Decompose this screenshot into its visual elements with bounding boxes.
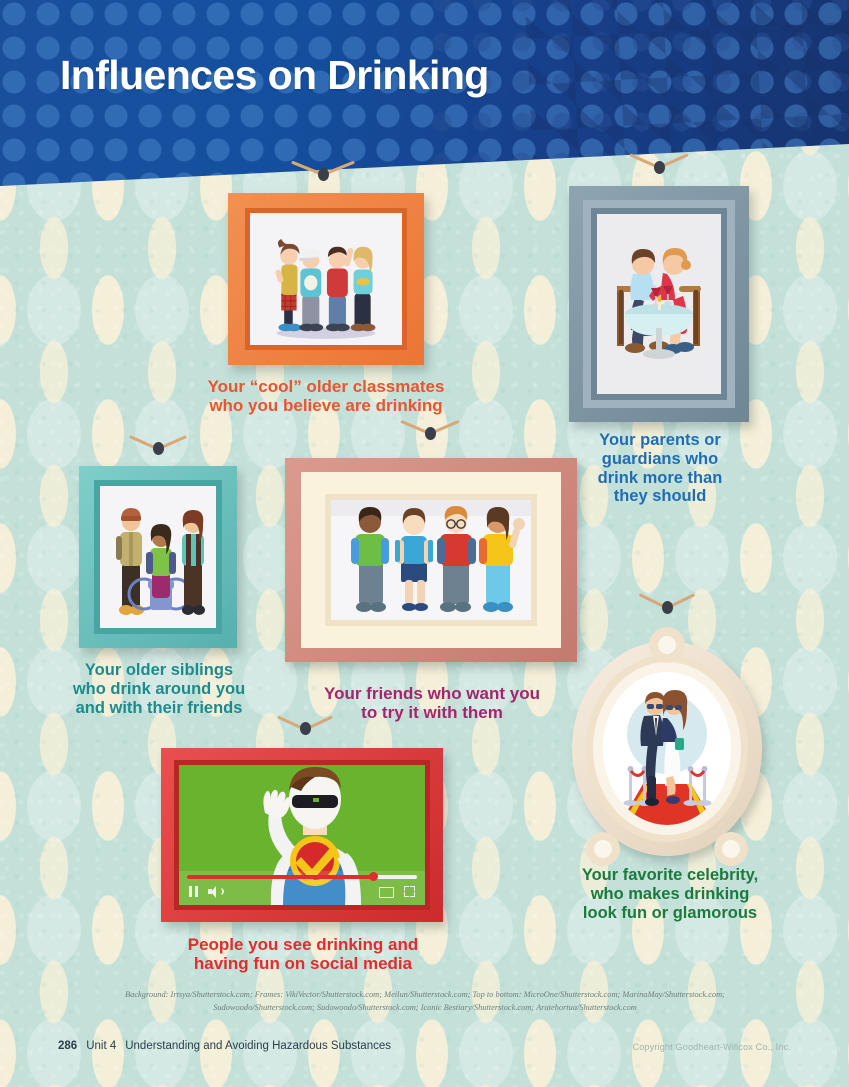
photo-siblings [100, 486, 216, 628]
hanger-nail [153, 442, 164, 455]
frame-parents[interactable] [569, 186, 749, 422]
photo-classmates [250, 213, 402, 345]
caption-siblings: Your older siblings who drink around you… [48, 661, 270, 717]
caption-line: Your older siblings [48, 661, 270, 680]
hanger-siblings [122, 442, 194, 468]
theater-mode-icon[interactable] [379, 887, 394, 898]
caption-line: Your favorite celebrity, [555, 866, 785, 885]
hanger-parents [621, 161, 697, 187]
caption-celebrity: Your favorite celebrity, who makes drink… [555, 866, 785, 922]
frame-celebrity[interactable] [572, 641, 762, 856]
caption-line: having fun on social media [175, 954, 431, 973]
fullscreen-icon[interactable] [404, 886, 415, 897]
photo-parents [597, 214, 721, 394]
hanger-friends [392, 427, 468, 453]
copyright-notice: Copyright Goodheart-Willcox Co., Inc. [633, 1042, 791, 1052]
photo-friends [331, 500, 531, 620]
caption-line: and with their friends [48, 699, 270, 718]
caption-classmates: Your “cool” older classmates who you bel… [178, 377, 474, 416]
frame-friends[interactable] [285, 458, 577, 662]
hanger-nail [662, 601, 673, 614]
credits-line-1: Background: Irtsya/Shutterstock.com; Fra… [62, 988, 788, 1001]
video-controls-bar[interactable] [179, 871, 425, 905]
caption-line: they should [566, 487, 754, 506]
caption-line: who drink around you [48, 680, 270, 699]
illustration-siblings [100, 486, 216, 628]
photo-social-media-video [179, 765, 425, 905]
caption-line: Your parents or [566, 431, 754, 450]
hanger-classmates [283, 168, 363, 194]
illustration-student-friends [331, 500, 531, 620]
image-credits: Background: Irtsya/Shutterstock.com; Fra… [62, 988, 788, 1014]
video-progress-thumb[interactable] [369, 872, 378, 881]
caption-parents: Your parents or guardians who drink more… [566, 431, 754, 506]
caption-line: Your “cool” older classmates [178, 377, 474, 396]
hanger-celebrity [631, 601, 703, 627]
caption-line: drink more than [566, 469, 754, 488]
caption-line: who you believe are drinking [178, 396, 474, 415]
caption-social-media: People you see drinking and having fun o… [175, 935, 431, 974]
caption-line: look fun or glamorous [555, 904, 785, 923]
illustration-teen-friends [250, 213, 402, 345]
illustration-celebrity-red-carpet [603, 672, 731, 825]
pause-icon[interactable] [189, 886, 198, 897]
caption-line: who makes drinking [555, 885, 785, 904]
photo-celebrity [603, 672, 731, 825]
caption-line: Your friends who want you [305, 684, 559, 703]
caption-line: guardians who [566, 450, 754, 469]
caption-friends: Your friends who want you to try it with… [305, 684, 559, 723]
page-title: Influences on Drinking [60, 52, 489, 99]
frame-classmates[interactable] [228, 193, 424, 365]
frame-siblings[interactable] [79, 466, 237, 648]
illustration-couple-wine [597, 214, 721, 394]
unit-title: Understanding and Avoiding Hazardous Sub… [125, 1040, 391, 1052]
hanger-nail [654, 161, 665, 174]
hanger-nail [318, 168, 329, 181]
caption-line: People you see drinking and [175, 935, 431, 954]
unit-label: Unit 4 [86, 1040, 116, 1052]
credits-line-2: Sudowoodo/Shutterstock.com; Sudowoodo/Sh… [62, 1001, 788, 1014]
volume-icon[interactable] [208, 886, 223, 897]
hanger-social-media [270, 722, 340, 748]
textbook-page: Influences on Drinking [0, 0, 849, 1087]
hanger-nail [300, 722, 311, 735]
frame-social-media[interactable] [161, 748, 443, 922]
hanger-nail [425, 427, 436, 440]
caption-line: to try it with them [305, 703, 559, 722]
footer-left: 286Unit 4Understanding and Avoiding Haza… [58, 1040, 391, 1052]
video-progress-fill [187, 875, 375, 879]
page-number: 286 [58, 1040, 77, 1052]
